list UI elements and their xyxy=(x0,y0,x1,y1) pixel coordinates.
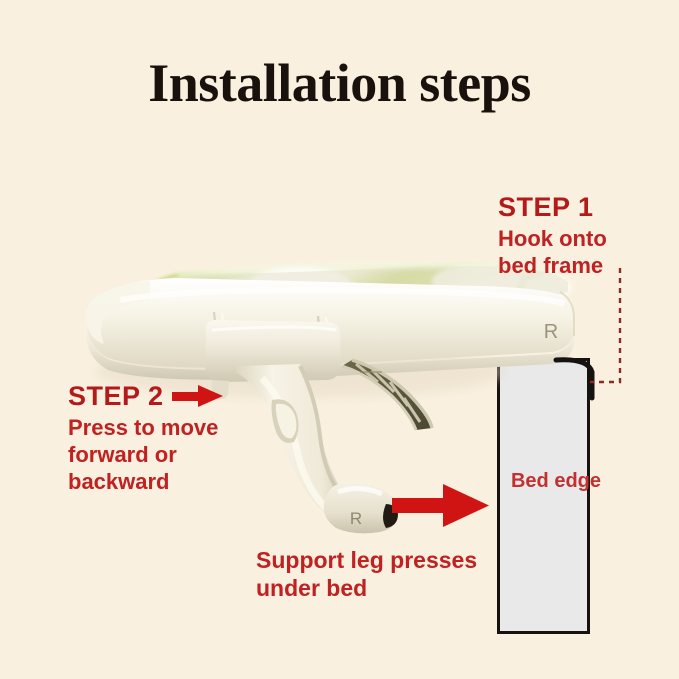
support-leg-caption: Support leg presses under bed xyxy=(256,546,477,602)
step2-callout: STEP 2 Press to move forward or backward xyxy=(68,382,224,496)
step2-heading: STEP 2 xyxy=(68,382,224,410)
step2-body: Press to move forward or backward xyxy=(68,415,224,495)
step1-body: Hook onto bed frame xyxy=(498,226,607,280)
step1-callout: STEP 1 Hook onto bed frame xyxy=(498,193,607,280)
hook-bracket-icon xyxy=(556,360,592,398)
foot-marking-r: R xyxy=(350,509,362,528)
step1-heading: STEP 1 xyxy=(498,193,607,221)
step1-heading-label: STEP 1 xyxy=(498,193,594,221)
installation-steps-infographic: Installation steps Bed edge xyxy=(0,0,679,679)
step2-heading-label: STEP 2 xyxy=(68,382,164,410)
frame-marking-r: R xyxy=(544,321,558,343)
step2-arrow-icon xyxy=(172,384,224,408)
